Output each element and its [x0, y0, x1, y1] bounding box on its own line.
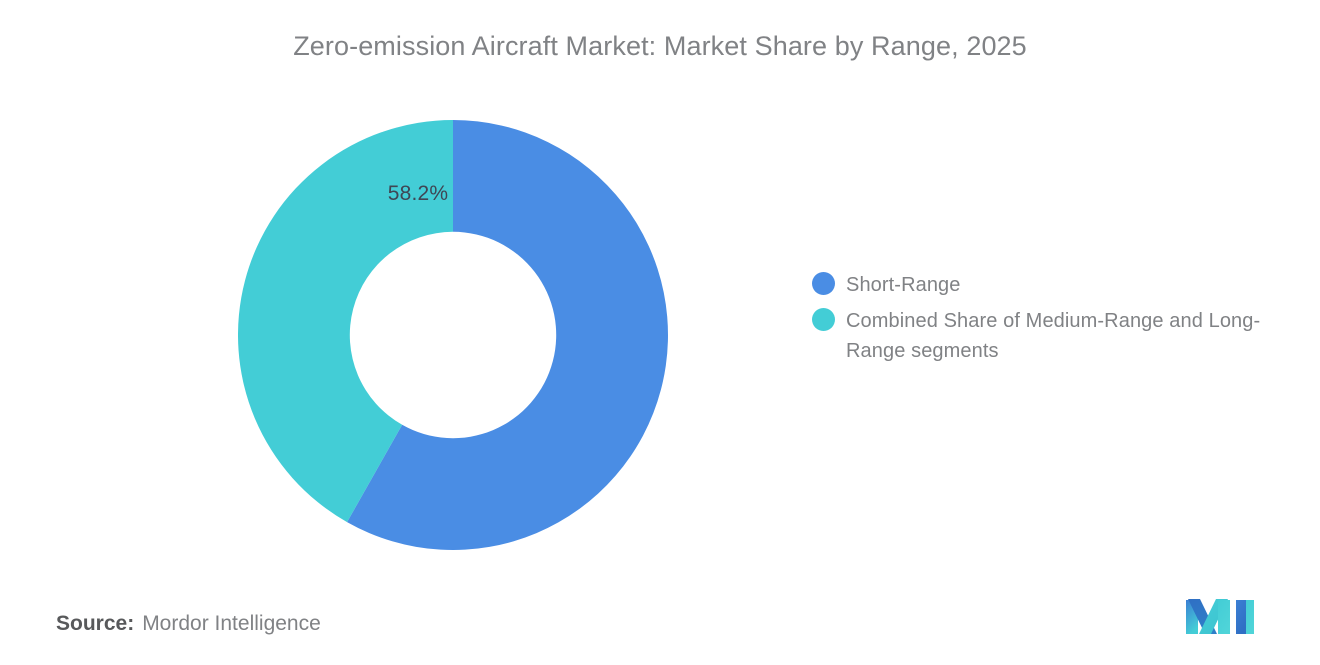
mordor-intelligence-logo-icon [1184, 596, 1256, 638]
legend-item-short-range[interactable]: Short-Range [812, 270, 1272, 300]
chart-legend: Short-Range Combined Share of Medium-Ran… [812, 270, 1272, 372]
legend-item-label: Short-Range [846, 270, 961, 300]
legend-color-swatch-icon [812, 272, 835, 295]
legend-color-swatch-icon [812, 308, 835, 331]
chart-title: Zero-emission Aircraft Market: Market Sh… [0, 30, 1320, 62]
source-label: Source: [56, 612, 134, 635]
legend-item-combined-range[interactable]: Combined Share of Medium-Range and Long-… [812, 306, 1272, 366]
source-value: Mordor Intelligence [142, 612, 321, 635]
slice-data-label-short-range: 58.2% [368, 182, 468, 206]
legend-item-label: Combined Share of Medium-Range and Long-… [846, 306, 1266, 366]
source-attribution: Source:Mordor Intelligence [56, 612, 321, 636]
